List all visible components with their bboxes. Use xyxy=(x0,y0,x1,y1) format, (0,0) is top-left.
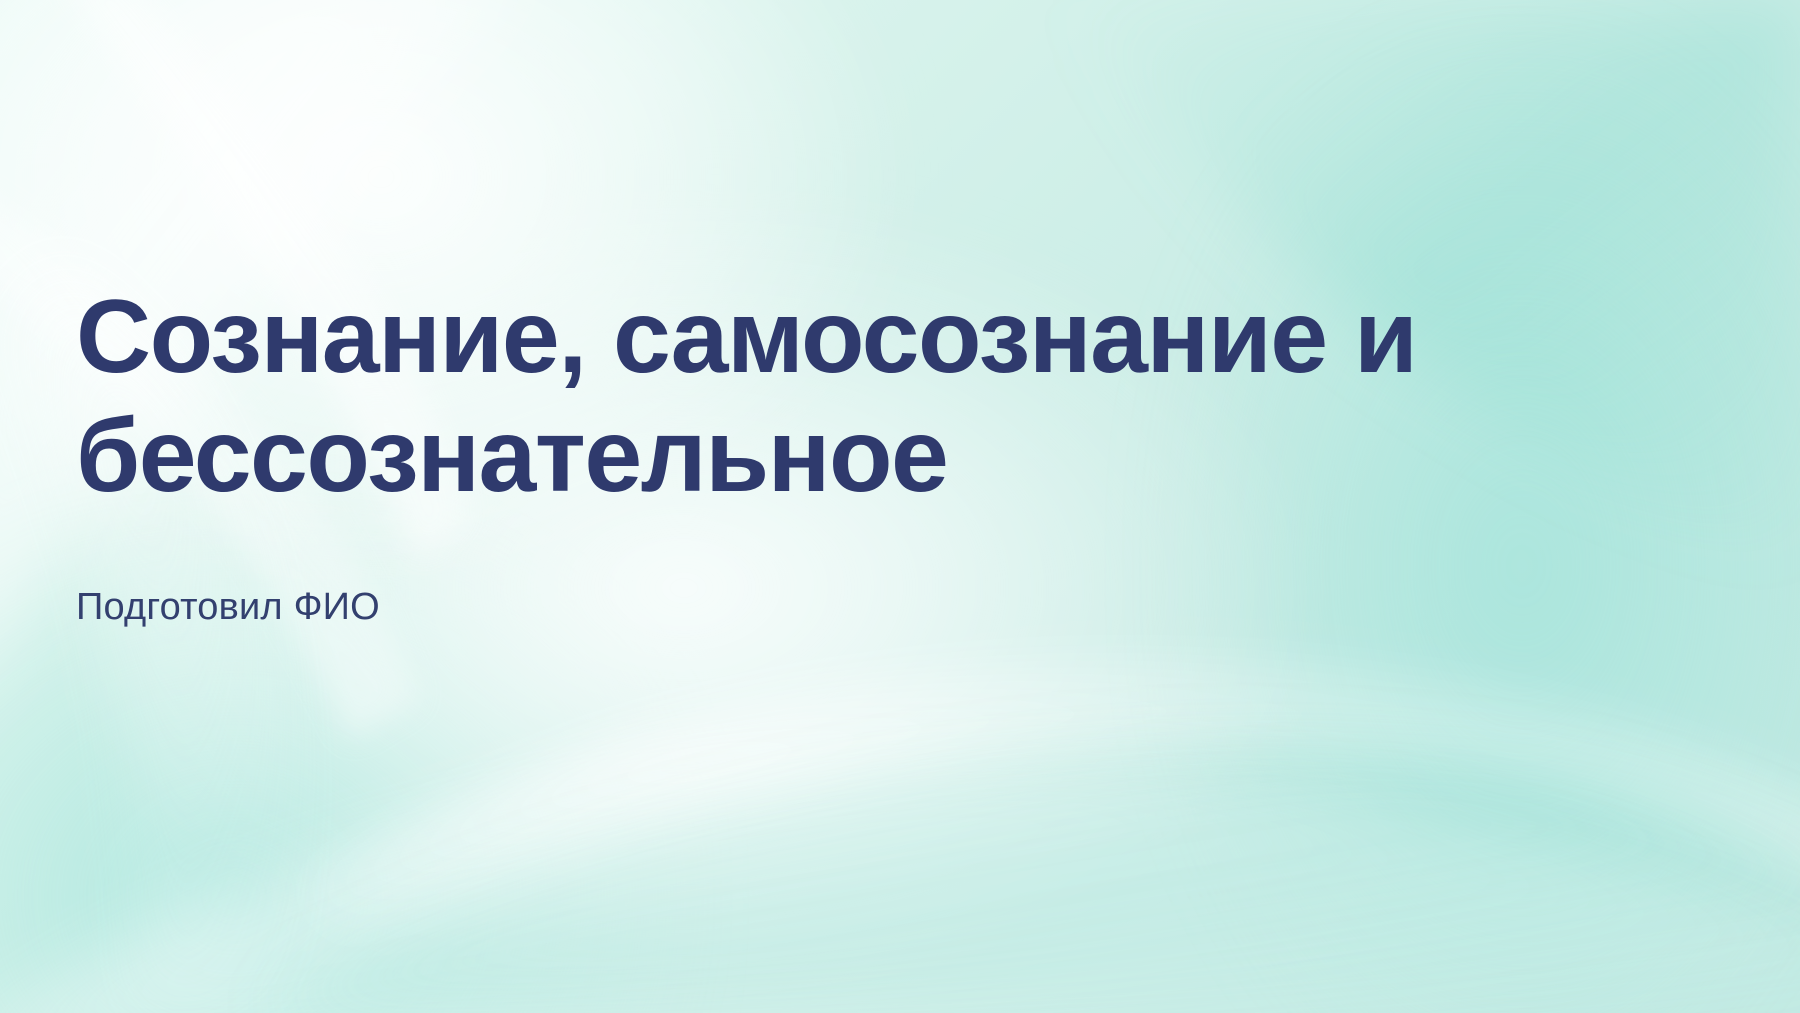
slide-content: Сознание, самосознание и бессознательное… xyxy=(76,278,1556,631)
title-slide: Сознание, самосознание и бессознательное… xyxy=(0,0,1800,1013)
page-title: Сознание, самосознание и бессознательное xyxy=(76,278,1556,515)
slide-subtitle: Подготовил ФИО xyxy=(76,515,1556,631)
